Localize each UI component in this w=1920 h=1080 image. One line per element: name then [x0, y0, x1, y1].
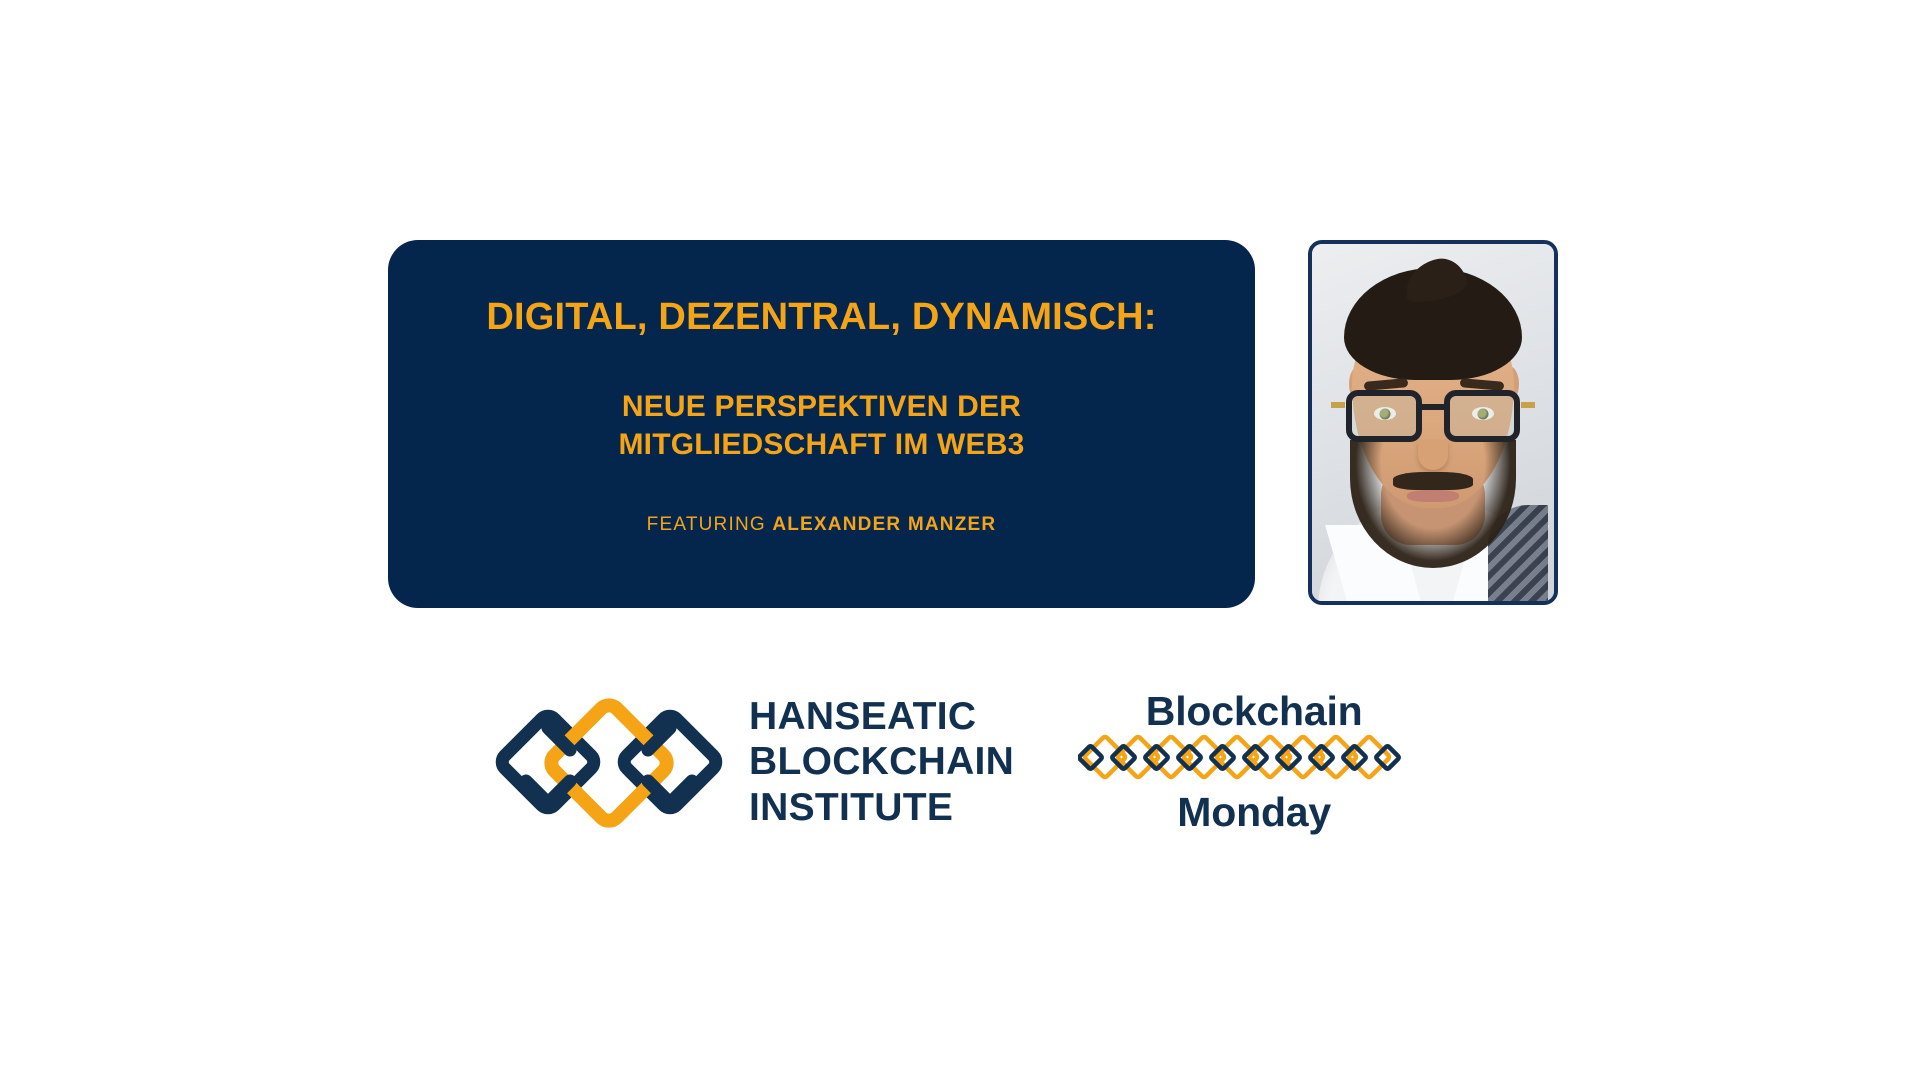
portrait-mouth	[1407, 490, 1459, 502]
glasses-lens-right	[1444, 390, 1520, 442]
featuring-line: FEATURING ALEXANDER MANZER	[647, 514, 997, 536]
blockchain-monday-bottom-word: Monday	[1177, 791, 1331, 834]
page-title: DIGITAL, DEZENTRAL, DYNAMISCH:	[486, 296, 1156, 340]
blockchain-monday-diamond-chain-icon	[1078, 733, 1430, 791]
glasses-temple-left	[1331, 402, 1345, 408]
subtitle: NEUE PERSPEKTIVEN DER MITGLIEDSCHAFT IM …	[618, 388, 1024, 465]
glasses-icon	[1340, 390, 1526, 444]
logos-row: HANSEATIC BLOCKCHAIN INSTITUTE Blockchai…	[495, 672, 1455, 852]
blockchain-monday-logo: Blockchain	[1078, 690, 1430, 834]
poster-canvas: DIGITAL, DEZENTRAL, DYNAMISCH: NEUE PERS…	[0, 0, 1920, 1080]
title-card: DIGITAL, DEZENTRAL, DYNAMISCH: NEUE PERS…	[388, 240, 1255, 608]
speaker-name: ALEXANDER MANZER	[772, 514, 996, 535]
speaker-portrait-frame	[1308, 240, 1558, 605]
portrait-nose	[1418, 440, 1448, 470]
hero-row: DIGITAL, DEZENTRAL, DYNAMISCH: NEUE PERS…	[388, 240, 1565, 608]
speaker-portrait-image	[1312, 244, 1554, 601]
hanseatic-wordmark: HANSEATIC BLOCKCHAIN INSTITUTE	[749, 694, 1014, 830]
featuring-label: FEATURING	[647, 514, 773, 535]
hbi-line-2: BLOCKCHAIN	[749, 739, 1014, 784]
hbi-line-1: HANSEATIC	[749, 694, 1014, 739]
blockchain-monday-top-word: Blockchain	[1146, 690, 1363, 733]
portrait-mustache	[1393, 472, 1473, 490]
hanseatic-blockchain-institute-logo: HANSEATIC BLOCKCHAIN INSTITUTE	[495, 687, 1014, 837]
glasses-lens-left	[1346, 390, 1422, 442]
hanseatic-diamonds-icon	[495, 687, 723, 837]
glasses-temple-right	[1521, 402, 1535, 408]
subtitle-line-2: MITGLIEDSCHAFT IM WEB3	[618, 426, 1024, 464]
subtitle-line-1: NEUE PERSPEKTIVEN DER	[618, 388, 1024, 426]
hbi-line-3: INSTITUTE	[749, 785, 1014, 830]
glasses-bridge	[1421, 404, 1445, 410]
